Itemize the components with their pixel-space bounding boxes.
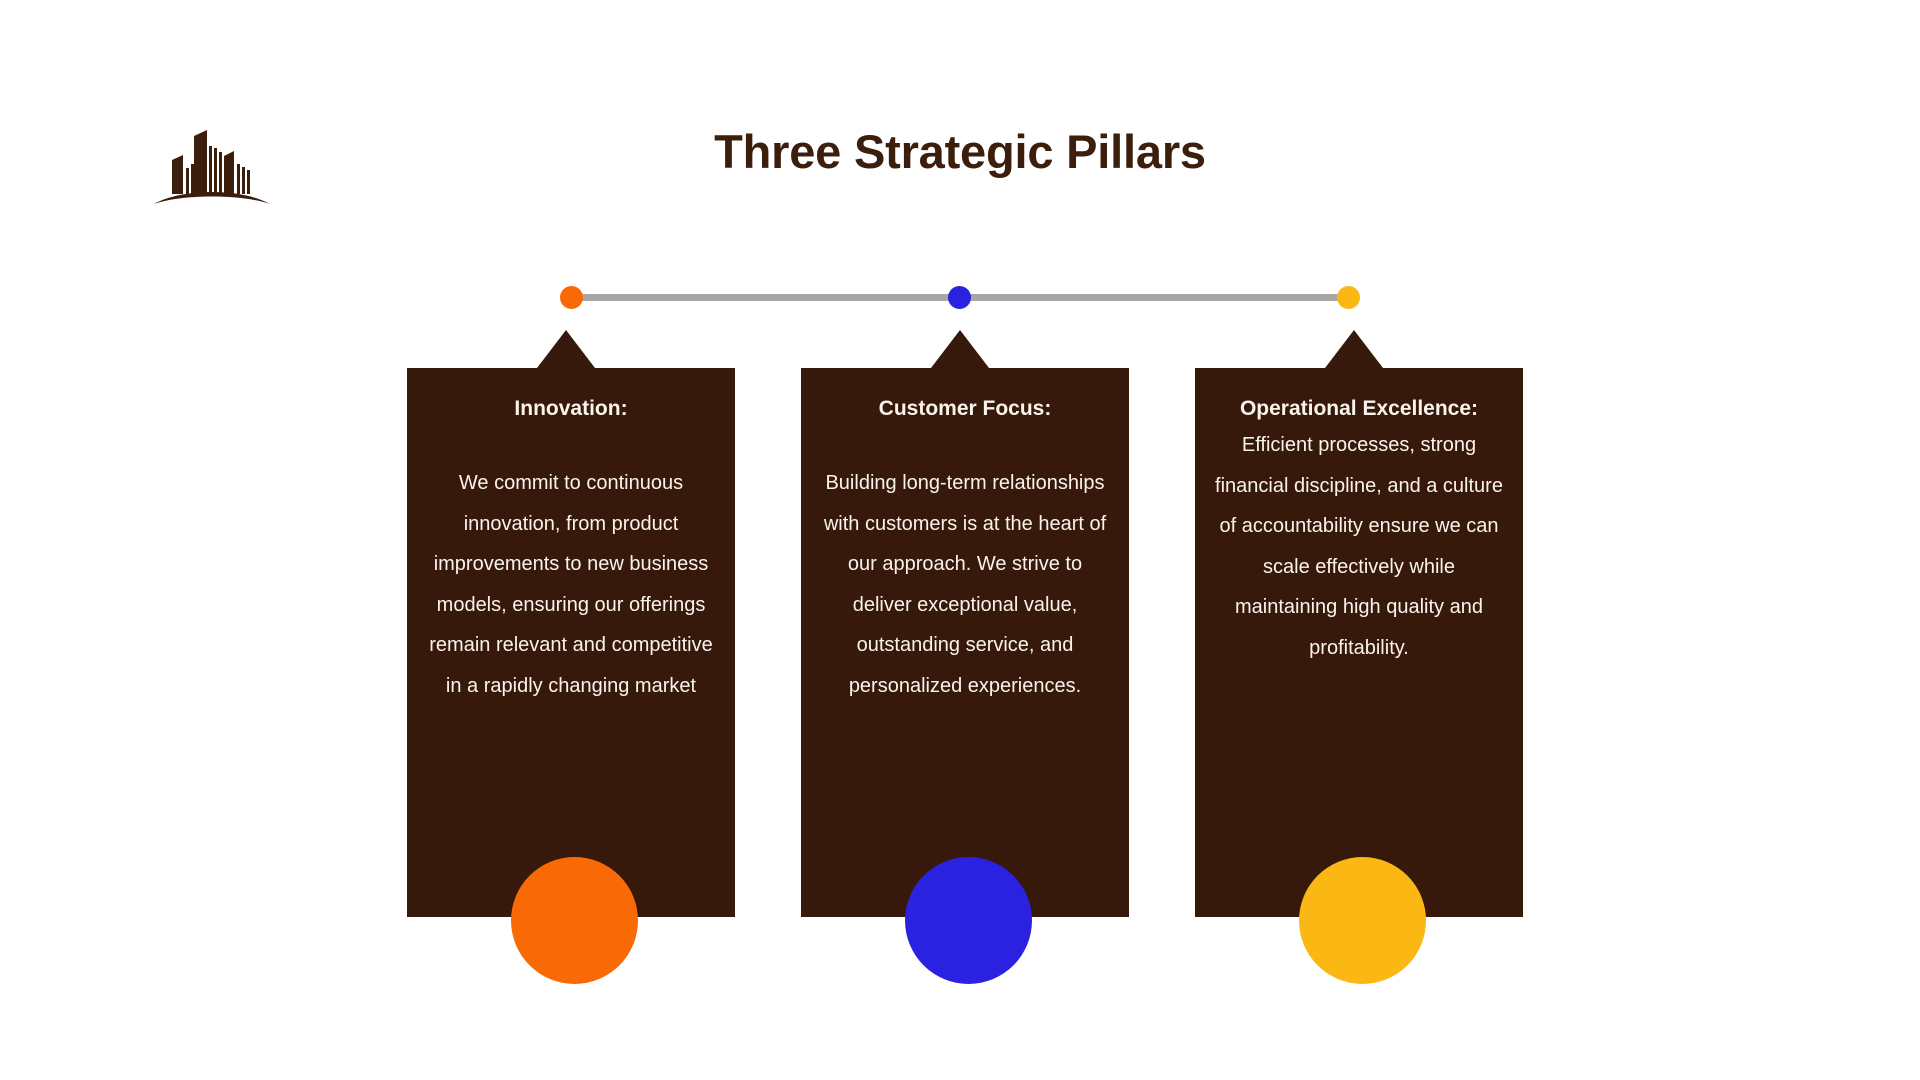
pillar-pointer-2 [931, 330, 989, 368]
timeline-dot-3[interactable] [1337, 286, 1360, 309]
pillar-card-body-1: Innovation: We commit to continuous inno… [407, 368, 735, 917]
pillar-bubble-1 [511, 857, 638, 984]
page-title: Three Strategic Pillars [0, 124, 1920, 179]
pillar-pointer-1 [537, 330, 595, 368]
pillar-description-2: Building long-term relationships with cu… [819, 463, 1111, 706]
timeline-dot-2[interactable] [948, 286, 971, 309]
pillar-title-3: Operational Excellence: [1213, 392, 1505, 425]
pillar-title-1: Innovation: [425, 392, 717, 425]
timeline-dot-1[interactable] [560, 286, 583, 309]
pillar-timeline [560, 286, 1360, 310]
pillar-title-2: Customer Focus: [819, 392, 1111, 425]
pillar-card-body-3: Operational Excellence: Efficient proces… [1195, 368, 1523, 917]
pillar-card-body-2: Customer Focus: Building long-term relat… [801, 368, 1129, 917]
pillar-bubble-2 [905, 857, 1032, 984]
page-title-text: Three Strategic Pillars [714, 124, 1206, 179]
pillar-description-1: We commit to continuous innovation, from… [425, 463, 717, 706]
pillar-description-3: Efficient processes, strong financial di… [1213, 425, 1505, 668]
logo-arc [154, 192, 270, 204]
pillar-bubble-3 [1299, 857, 1426, 984]
pillar-pointer-3 [1325, 330, 1383, 368]
